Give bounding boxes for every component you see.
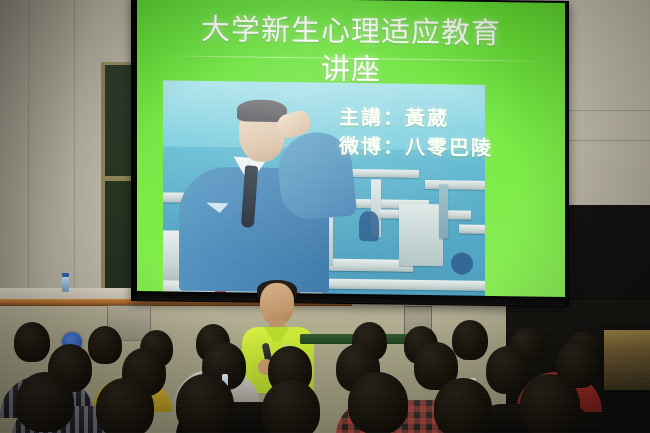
audience-head [348,372,408,433]
maze-person [359,211,379,241]
audience-head [176,374,234,433]
slide-title: 大学新生心理适应教育 讲座 [137,9,565,91]
slide-title-line-1: 大学新生心理适应教育 [137,9,565,53]
projection-screen: 大学新生心理适应教育 讲座 主講：黃葳 微博：八零巴陵 [137,0,565,302]
audience-head [88,326,122,364]
audience-head [520,374,580,433]
audience-head [452,320,488,360]
slide-title-line-2: 讲座 [137,47,565,91]
wall-seam-mid [74,0,75,300]
businessman-figure [171,94,361,293]
audience [0,316,650,433]
lecture-hall-screenshot: 大学新生心理适应教育 讲座 主講：黃葳 微博：八零巴陵 [0,0,650,433]
right-wall-seam-1 [566,110,650,111]
wall-seam-left [28,0,29,300]
maze-wall [459,225,485,234]
slide-speaker-line: 主講：黃葳 [339,103,554,135]
water-bottle [62,276,69,292]
slide-subtitle-block: 主講：黃葳 微博：八零巴陵 [339,103,554,164]
audience-head [434,378,492,433]
maze-person [451,252,473,274]
audience-head [14,322,50,362]
maze-wall [425,180,485,190]
maze-wall [439,184,448,238]
audience-head [96,378,154,433]
audience-head [486,346,530,394]
maze-wall [399,204,443,267]
right-wall-seam-2 [566,140,650,141]
audience-head [16,372,74,432]
audience-head [262,380,320,433]
right-wall [566,0,650,208]
water-bottle-cap [62,273,69,277]
slide-weibo-line: 微博：八零巴陵 [339,132,554,164]
